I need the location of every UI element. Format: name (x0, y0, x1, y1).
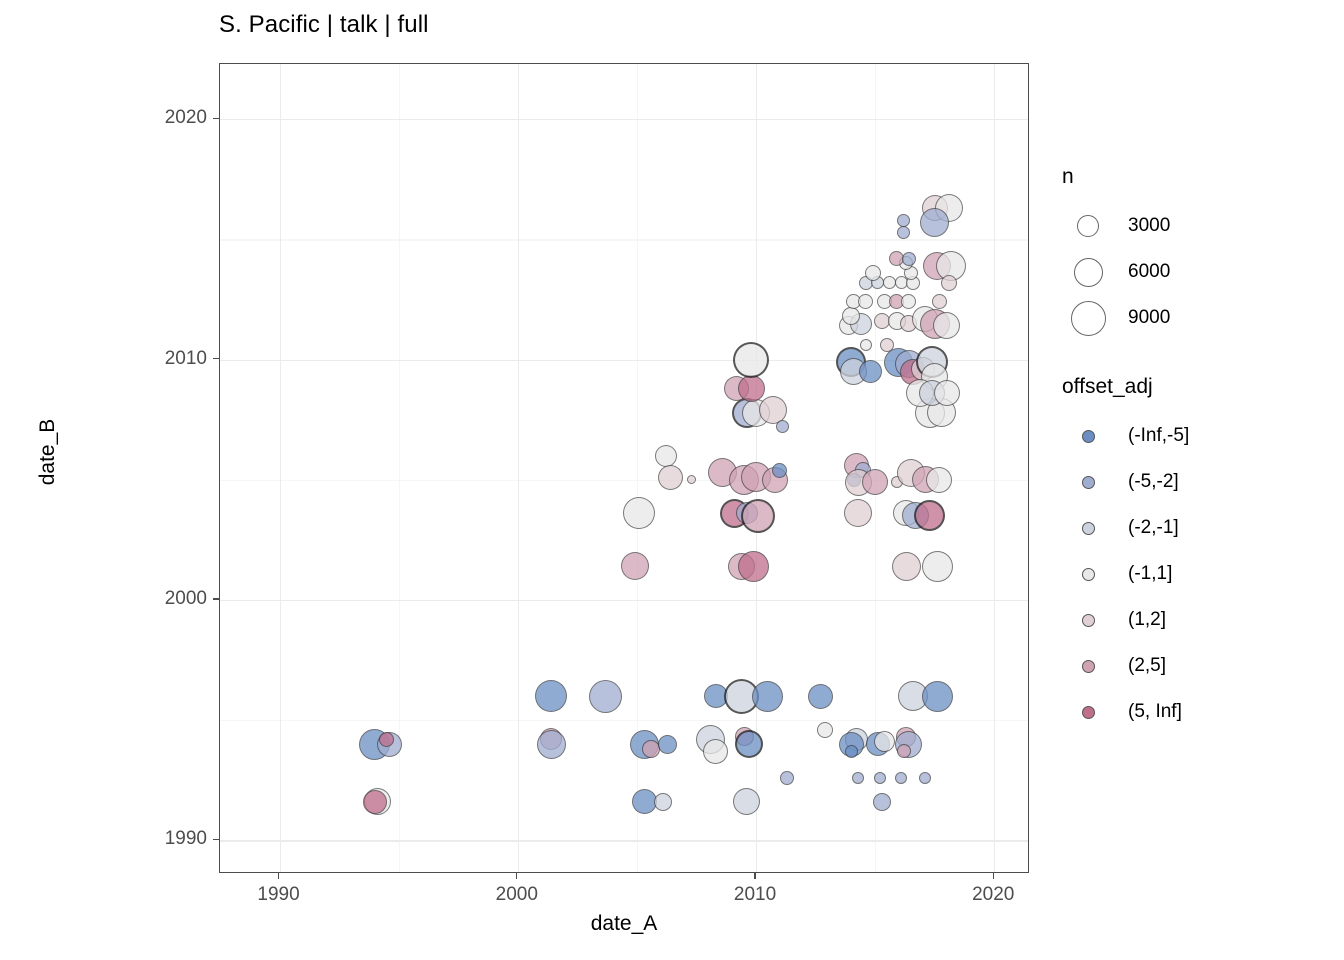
data-point (920, 208, 949, 237)
data-point (655, 445, 677, 467)
color-swatch-icon (1082, 614, 1095, 627)
data-point (735, 730, 763, 758)
legend-size-key (1062, 301, 1114, 336)
data-point (817, 722, 833, 738)
y-tick-mark (213, 358, 219, 359)
data-point (623, 497, 655, 529)
data-point (922, 551, 953, 582)
data-point (738, 375, 765, 402)
y-tick-label: 2020 (99, 107, 207, 129)
y-tick-mark (213, 118, 219, 119)
legend-color-label: (2,5] (1128, 655, 1166, 677)
legend-size-item[interactable]: 6000 (1062, 249, 1332, 295)
data-point (901, 294, 916, 309)
data-point (902, 252, 916, 266)
data-point (654, 793, 672, 811)
x-tick-mark (516, 873, 517, 879)
x-tick-mark (278, 873, 279, 879)
y-tick-mark (213, 839, 219, 840)
legend-size-item[interactable]: 9000 (1062, 295, 1332, 341)
data-point (874, 731, 895, 752)
page-title: S. Pacific | talk | full (219, 11, 429, 39)
data-point (776, 420, 789, 433)
legend-color-key (1062, 614, 1114, 627)
x-tick-label: 2000 (457, 884, 577, 906)
legend-color-title: offset_adj (1062, 375, 1332, 399)
legend-color-item[interactable]: (2,5] (1062, 643, 1332, 689)
data-point (733, 342, 769, 378)
x-tick-mark (754, 873, 755, 879)
data-point (865, 265, 881, 281)
data-point (845, 745, 858, 758)
data-point (658, 735, 677, 754)
circle-icon (1071, 301, 1106, 336)
chart-root: S. Pacific | talk | full date_B date_A n… (0, 0, 1344, 960)
y-tick-mark (213, 598, 219, 599)
legend-color-key (1062, 430, 1114, 443)
data-point (772, 463, 787, 478)
color-swatch-icon (1082, 522, 1095, 535)
y-tick-label: 2000 (99, 588, 207, 610)
horizontal-gridline (220, 600, 1028, 601)
circle-icon (1074, 258, 1103, 287)
vertical-gridline (518, 64, 519, 872)
vertical-gridline (994, 64, 995, 872)
horizontal-gridline (220, 840, 1028, 841)
data-point (874, 772, 886, 784)
data-point (883, 276, 896, 289)
legend-color-item[interactable]: (1,2] (1062, 597, 1332, 643)
data-point (858, 294, 873, 309)
legend-size-label: 9000 (1128, 307, 1170, 329)
y-axis-label: date_B (36, 352, 60, 552)
legend-size-title: n (1062, 165, 1332, 189)
legend-color-key (1062, 706, 1114, 719)
data-point (537, 730, 566, 759)
legend-color-key (1062, 476, 1114, 489)
horizontal-gridline (220, 720, 1028, 721)
data-point (703, 739, 728, 764)
vertical-gridline (280, 64, 281, 872)
legend-color-key (1062, 660, 1114, 673)
x-tick-label: 2020 (933, 884, 1053, 906)
x-axis-label: date_A (219, 912, 1029, 936)
color-swatch-icon (1082, 568, 1095, 581)
legend-color-label: (-1,1] (1128, 563, 1172, 585)
x-tick-label: 2010 (695, 884, 815, 906)
legend-color: offset_adj (-Inf,-5](-5,-2](-2,-1](-1,1]… (1062, 375, 1332, 735)
data-point (932, 294, 947, 309)
legend-color-item[interactable]: (-2,-1] (1062, 505, 1332, 551)
legend-color-item[interactable]: (-5,-2] (1062, 459, 1332, 505)
data-point (808, 684, 833, 709)
data-point (873, 793, 891, 811)
color-swatch-icon (1082, 706, 1095, 719)
data-point (859, 360, 882, 383)
x-tick-mark (993, 873, 994, 879)
legend-area: n 300060009000 offset_adj (-Inf,-5](-5,-… (1062, 165, 1332, 735)
legend-color-item[interactable]: (5, Inf] (1062, 689, 1332, 735)
data-point (780, 771, 794, 785)
data-point (892, 552, 921, 581)
y-tick-label: 1990 (99, 828, 207, 850)
data-point (862, 469, 888, 495)
legend-color-label: (1,2] (1128, 609, 1166, 631)
legend-size-item[interactable]: 3000 (1062, 203, 1332, 249)
color-swatch-icon (1082, 476, 1095, 489)
data-point (844, 499, 872, 527)
color-swatch-icon (1082, 430, 1095, 443)
data-point (926, 467, 952, 493)
data-point (658, 465, 683, 490)
x-tick-label: 1990 (219, 884, 339, 906)
data-point (897, 214, 910, 227)
legend-size-label: 3000 (1128, 215, 1170, 237)
data-point (535, 680, 567, 712)
legend-color-label: (-2,-1] (1128, 517, 1179, 539)
legend-size-key (1062, 215, 1114, 237)
data-point (897, 226, 910, 239)
data-point (934, 380, 960, 406)
legend-color-label: (5, Inf] (1128, 701, 1182, 723)
data-point (632, 789, 657, 814)
data-point (738, 551, 769, 582)
data-point (933, 312, 960, 339)
data-point (919, 772, 931, 784)
legend-color-key (1062, 568, 1114, 581)
data-point (852, 772, 864, 784)
legend-size-label: 6000 (1128, 261, 1170, 283)
y-tick-label: 2010 (99, 348, 207, 370)
plot-panel (219, 63, 1029, 873)
color-swatch-icon (1082, 660, 1095, 673)
legend-size: n 300060009000 (1062, 165, 1332, 341)
data-point (687, 475, 696, 484)
legend-size-key (1062, 258, 1114, 287)
data-point (922, 681, 953, 712)
horizontal-gridline (220, 119, 1028, 120)
data-point (914, 500, 945, 531)
legend-color-key (1062, 522, 1114, 535)
legend-color-item[interactable]: (-1,1] (1062, 551, 1332, 597)
data-point (741, 499, 775, 533)
data-point (621, 552, 649, 580)
horizontal-gridline (220, 239, 1028, 240)
data-point (895, 772, 907, 784)
data-point (941, 275, 957, 291)
data-point (363, 790, 387, 814)
legend-color-label: (-Inf,-5] (1128, 425, 1189, 447)
legend-color-label: (-5,-2] (1128, 471, 1179, 493)
data-point (752, 681, 783, 712)
data-point (860, 339, 872, 351)
data-point (589, 680, 622, 713)
circle-icon (1077, 215, 1099, 237)
legend-color-item[interactable]: (-Inf,-5] (1062, 413, 1332, 459)
